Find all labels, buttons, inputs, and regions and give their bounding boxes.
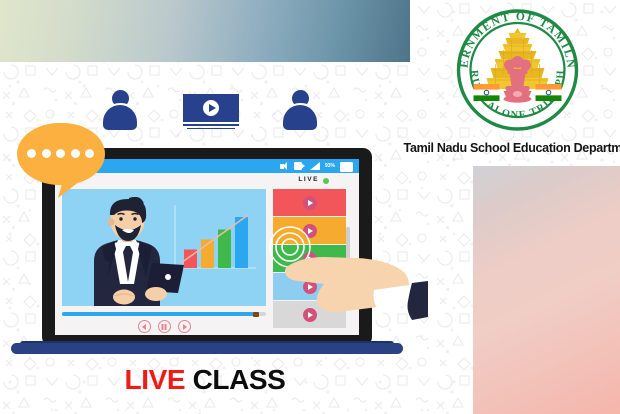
video-stage[interactable]: [62, 189, 266, 306]
live-badge-label: LIVE: [298, 176, 319, 183]
live-class-caption: LIVE CLASS: [0, 364, 410, 396]
flag-left: [474, 84, 500, 101]
video-progress-bar[interactable]: [62, 311, 266, 317]
live-class-banner: GOVERNMENT OF TAMILNADU TRUTH ALONE TRIU…: [0, 0, 620, 414]
play-icon[interactable]: [303, 196, 317, 210]
battery-icon: [340, 162, 353, 170]
laptop-base: [11, 343, 403, 354]
player-controls: [118, 320, 210, 334]
typing-dots: [27, 149, 95, 158]
live-status-dot: [323, 178, 329, 184]
progress-handle[interactable]: [253, 312, 259, 317]
camera-icon: [294, 162, 305, 170]
flag-right: [536, 84, 562, 101]
person-avatar-icon: [283, 90, 317, 130]
playlist-item[interactable]: [273, 189, 346, 216]
pointing-hand-cursor: [278, 218, 428, 328]
caption-live: LIVE: [125, 364, 186, 395]
pause-button[interactable]: [158, 320, 171, 333]
caption-class: CLASS: [193, 364, 286, 395]
pink-gradient-panel: [473, 166, 620, 414]
play-button[interactable]: [178, 320, 191, 333]
department-title: Tamil Nadu School Education Department: [404, 140, 615, 155]
progress-fill: [62, 312, 254, 316]
government-emblem: GOVERNMENT OF TAMILNADU TRUTH ALONE TRIU…: [430, 6, 605, 138]
battery-percent-label: 93%: [325, 162, 335, 170]
presenter-illustration: [74, 197, 194, 306]
signal-icon: [310, 162, 320, 170]
speaker-icon: [280, 162, 289, 170]
header-icon-row: [95, 88, 325, 130]
person-avatar-icon: [103, 90, 137, 130]
chat-speech-bubble: [17, 123, 105, 199]
top-gradient-band: [0, 0, 410, 62]
video-screen-play-icon: [183, 94, 239, 127]
rewind-button[interactable]: [138, 320, 151, 333]
